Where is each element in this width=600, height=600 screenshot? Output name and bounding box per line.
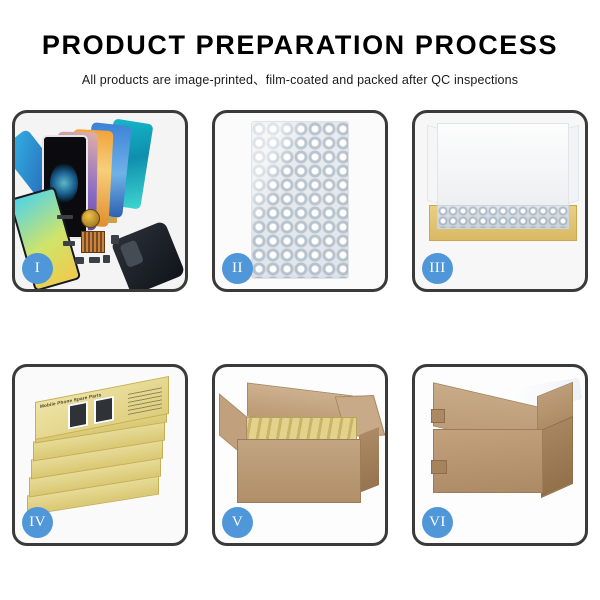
- small-part-5: [89, 257, 100, 263]
- box-window-2: [94, 396, 114, 425]
- small-part-2: [107, 217, 117, 223]
- box-window-1: [68, 401, 88, 430]
- step-panel-6[interactable]: VI: [412, 364, 588, 546]
- box-text-lines: [128, 384, 162, 415]
- page-title: PRODUCT PREPARATION PROCESS: [0, 30, 600, 60]
- bubble-wrap-sheet: [251, 121, 349, 279]
- step-badge-1: I: [22, 253, 53, 284]
- chip-part: [81, 231, 105, 253]
- page-header: PRODUCT PREPARATION PROCESS All products…: [0, 0, 600, 88]
- phone-back-housing: [110, 220, 185, 289]
- box-lid: [437, 123, 569, 209]
- small-part-1: [63, 241, 75, 246]
- carton-front-panel: [237, 439, 361, 503]
- small-part-4: [75, 257, 84, 264]
- step-badge-5: V: [222, 507, 253, 538]
- step-panel-3[interactable]: III: [412, 110, 588, 292]
- step-badge-4: IV: [22, 507, 53, 538]
- step-badge-6: VI: [422, 507, 453, 538]
- small-part-3: [111, 235, 119, 244]
- sealed-carton-side: [541, 416, 573, 498]
- carton-tape-upper: [431, 409, 445, 423]
- step-panel-5[interactable]: V: [212, 364, 388, 546]
- carton-side-panel: [359, 427, 379, 493]
- bubble-wrapped-items: [437, 205, 569, 229]
- small-part-6: [103, 255, 110, 263]
- speaker-part: [81, 209, 100, 228]
- carton-tape-lower: [431, 460, 447, 474]
- page-subtitle: All products are image-printed、film-coat…: [0, 69, 600, 88]
- step-badge-2: II: [222, 253, 253, 284]
- process-steps-grid: I II III Mobile Phone Spare Parts: [12, 110, 588, 546]
- step-panel-1[interactable]: I: [12, 110, 188, 292]
- step-panel-4[interactable]: Mobile Phone Spare Parts IV: [12, 364, 188, 546]
- flex-cable-part: [57, 215, 73, 219]
- step-panel-2[interactable]: II: [212, 110, 388, 292]
- sealed-carton-front: [433, 429, 543, 493]
- step-badge-3: III: [422, 253, 453, 284]
